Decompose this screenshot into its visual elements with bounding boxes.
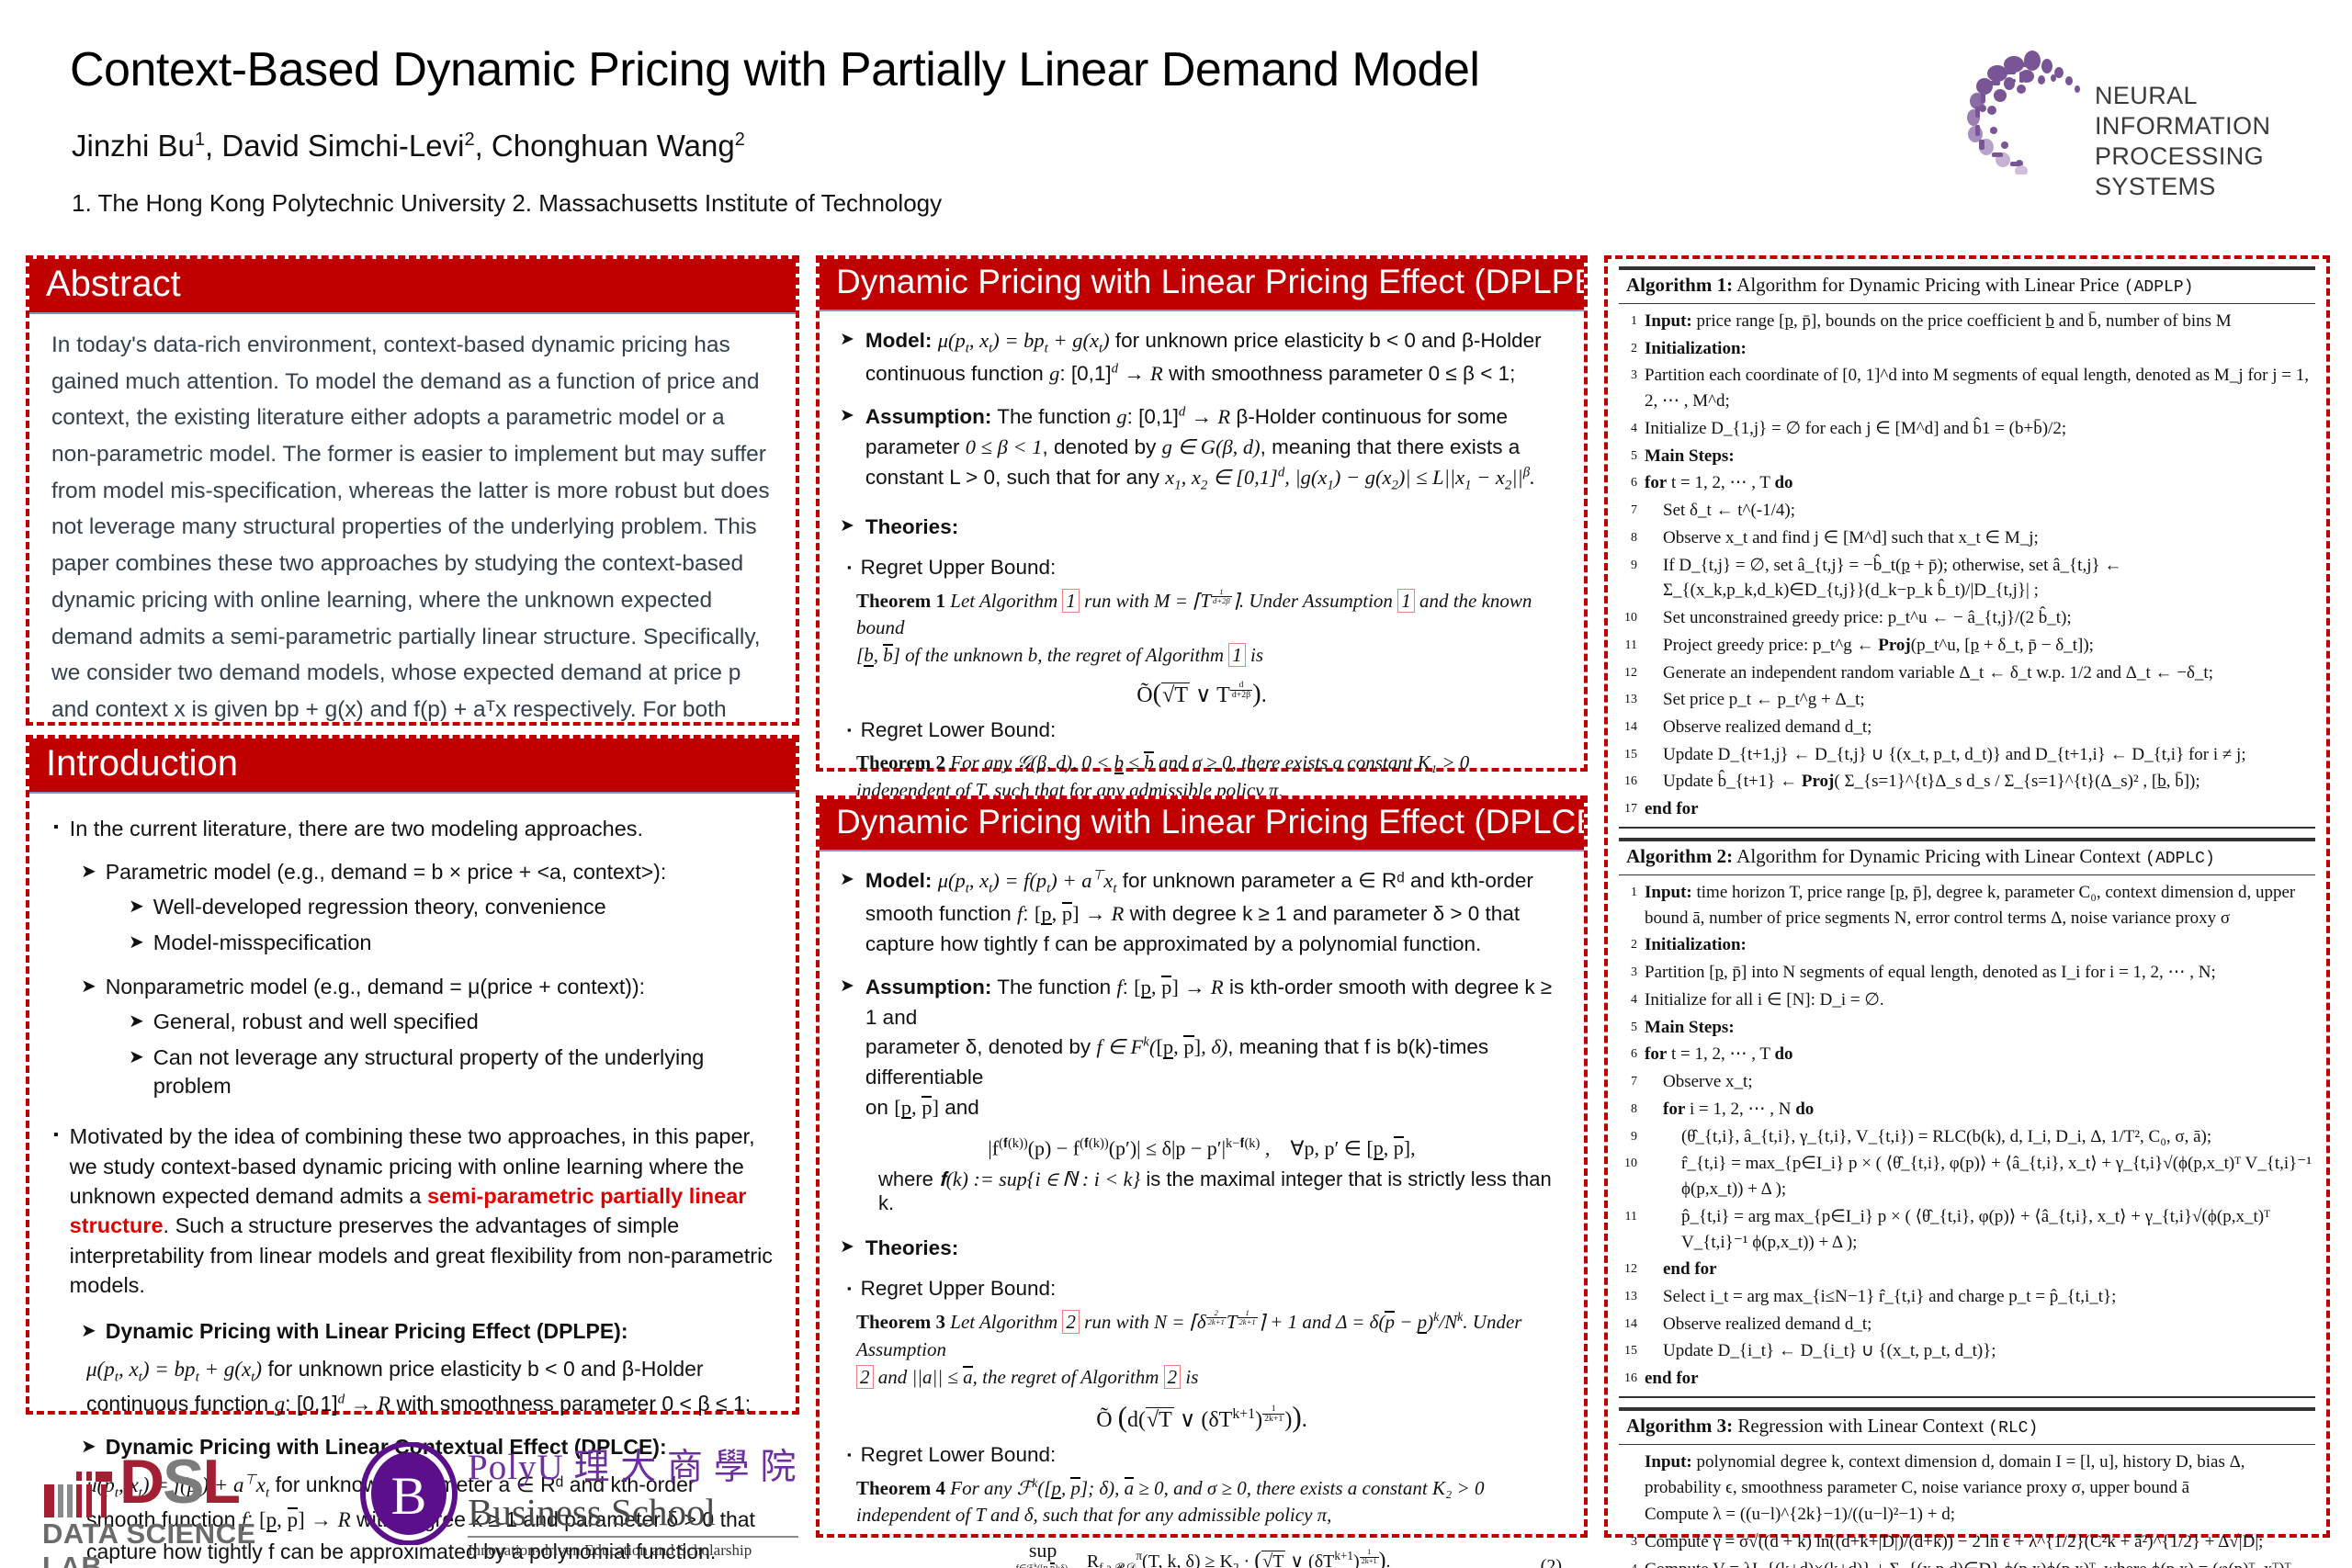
- algorithm-1-line-13: 13Set price p_t ← p_t^g + Δ_t;: [1613, 686, 2321, 714]
- line-text: If D_{t,j} = ∅, set â_{t,j} = −b̂_t(p +…: [1637, 553, 2313, 604]
- line-text: Update D_{t+1,j} ← D_{t,j} ∪ {(x_t, p_t,…: [1637, 742, 2313, 768]
- arrow-bullet-icon: ➤: [81, 973, 96, 1001]
- author-list: Jinzhi Bu1, David Simchi-Levi2, Chonghua…: [72, 129, 1634, 164]
- line-text: Partition [p, p̄] into N segments of equ…: [1637, 960, 2313, 986]
- dplce-smoothness-equation: |f(𝐟(k))(p) − f(𝐟(k))(p′)| ≤ δ|p − p′|k−…: [836, 1136, 1567, 1160]
- line-text: Compute V = λI_{(k+d)×(k+d)} + Σ_{(x,p,d…: [1637, 1557, 2313, 1568]
- intro-dplpe-tail-2: with smoothness parameter 0 < β ≤ 1;: [396, 1392, 751, 1416]
- theorem-2-name: Theorem 2: [856, 751, 945, 773]
- dplce-body: ➤ Model: μ(pt, xt) = f(pt) + a⊤xt for un…: [820, 852, 1584, 1568]
- algorithm-1-line-7: 7Set δ_t ← t^(-1/4);: [1613, 497, 2321, 525]
- dplce-model-t2: smooth function: [865, 902, 1012, 925]
- line-text: for t = 1, 2, ⋯ , T do: [1637, 470, 2313, 496]
- line-text: Observe x_t and find j ∈ [M^d] such that…: [1637, 525, 2313, 551]
- theorem-2-t1: For any: [950, 751, 1012, 773]
- line-number: 14: [1617, 1312, 1637, 1337]
- algorithm-3-line-1: Input: polynomial degree k, context dime…: [1613, 1449, 2321, 1501]
- dplpe-model-tail-1: for unknown price elasticity b < 0 and β…: [1115, 329, 1542, 352]
- square-bullet-icon: ▪: [847, 718, 852, 742]
- theorem-1-assumption-ref[interactable]: 1: [1397, 589, 1415, 613]
- line-number: 10: [1617, 605, 1637, 631]
- author-3: , Chonghuan Wang: [475, 129, 735, 163]
- dplpe-assumption-t3: , denoted by: [1042, 435, 1156, 458]
- theorem-3-t2: run with: [1084, 1311, 1149, 1333]
- mit-logo-icon: [42, 1470, 114, 1517]
- intro-parametric-sub-1: ➤ Well-developed regression theory, conv…: [129, 893, 777, 922]
- algorithm-1-line-3: 3Partition each coordinate of [0, 1]^d i…: [1613, 362, 2321, 414]
- theorem-3-t5: , the regret of Algorithm: [973, 1366, 1159, 1388]
- algorithm-3-line-3: 3Compute γ = σ√((d + k) ln((d+k+|D|)/(d+…: [1613, 1529, 2321, 1556]
- square-bullet-icon: ▪: [847, 556, 852, 580]
- page-title: Context-Based Dynamic Pricing with Parti…: [70, 44, 1724, 96]
- intro-parametric-label: Parametric model (e.g., demand = b × pri…: [106, 858, 666, 886]
- theorem-3-algo-ref[interactable]: 2: [1062, 1310, 1080, 1334]
- arrow-bullet-icon: ➤: [129, 1043, 144, 1101]
- line-number: 15: [1617, 742, 1637, 768]
- algorithm-2-bottom-rule: [1619, 1396, 2315, 1398]
- algorithm-2-line-16: 16end for: [1613, 1365, 2321, 1393]
- algorithm-2-line-11: 11p̂_{t,i} = arg max_{p∈I_i} p × ( ⟨θ̂_{…: [1613, 1203, 2321, 1256]
- algorithm-1-line-2: 2Initialization:: [1613, 335, 2321, 363]
- line-text: Input: time horizon T, price range [p, p…: [1637, 880, 2313, 931]
- line-text: end for: [1637, 796, 2313, 822]
- polyu-logo: B PolyU 理 大 商 學 院 Business School Innova…: [359, 1438, 791, 1554]
- line-text: Select i_t = arg max_{i≤N−1} r̂_{t,i} an…: [1637, 1284, 2313, 1310]
- theorem-3-equation: Õ (d(√T ∨ (δTk+1)12k+1)).: [836, 1401, 1567, 1434]
- theorem-4-equation: sup f∈ℱk([p,p];δ),||a||≤a,𝓟,𝒟∈ℰ(σ) Rf,a,…: [836, 1539, 1567, 1568]
- line-number: 12: [1617, 1257, 1637, 1282]
- arrow-bullet-icon: ➤: [840, 326, 854, 389]
- algorithm-3-title: Algorithm 3: Regression with Linear Cont…: [1613, 1411, 2321, 1441]
- line-text: Observe realized demand d_t;: [1637, 715, 2313, 740]
- algorithm-1-line-10: 10Set unconstrained greedy price: p_t^u …: [1613, 604, 2321, 632]
- algorithm-2-line-2: 2Initialization:: [1613, 931, 2321, 959]
- square-bullet-icon: ▪: [847, 1443, 852, 1467]
- theorem-2-t2: , there exists a constant K₁ > 0 indepen…: [856, 751, 1469, 801]
- dplpe-upper-bound-label: Regret Upper Bound:: [861, 556, 1057, 580]
- algorithm-1-title: Algorithm 1: Algorithm for Dynamic Prici…: [1613, 270, 2321, 300]
- theorem-1-algo-ref[interactable]: 1: [1062, 589, 1080, 613]
- theorem-3-algo-ref-2[interactable]: 2: [1164, 1365, 1182, 1389]
- intro-motivation-post: . Such a structure preserves the advanta…: [70, 1213, 773, 1297]
- algorithms-section: Algorithm 1: Algorithm for Dynamic Prici…: [1604, 255, 2330, 1538]
- intro-dplpe-equation: μ(pt, xt) = bpt + g(xt) for unknown pric…: [86, 1353, 777, 1420]
- abstract-heading: Abstract: [29, 259, 796, 314]
- theorem-1-t5: of the unknown b, the regret of Algorith…: [905, 644, 1224, 666]
- line-number: 12: [1617, 660, 1637, 686]
- line-text: Observe x_t;: [1637, 1069, 2313, 1095]
- introduction-heading: Introduction: [29, 739, 796, 794]
- line-number: 13: [1617, 1284, 1637, 1310]
- dplce-model-t3: with degree k ≥ 1 and parameter δ > 0 th…: [1130, 902, 1521, 925]
- line-text: Set unconstrained greedy price: p_t^u ← …: [1637, 605, 2313, 631]
- line-text: Input: polynomial degree k, context dime…: [1637, 1450, 2313, 1500]
- theorem-4-equation-number: (2): [1541, 1556, 1562, 1568]
- dplce-lower-bound-label: Regret Lower Bound:: [861, 1443, 1057, 1467]
- dplpe-assumption-label: Assumption:: [865, 405, 992, 428]
- line-text: for t = 1, 2, ⋯ , T do: [1637, 1042, 2313, 1067]
- line-number: 15: [1617, 1338, 1637, 1364]
- line-text: Generate an independent random variable …: [1637, 660, 2313, 686]
- line-number: 6: [1617, 470, 1637, 496]
- arrow-bullet-icon: ➤: [129, 893, 144, 922]
- theorem-3-t6: is: [1185, 1366, 1198, 1388]
- algorithm-2-line-3: 3Partition [p, p̄] into N segments of eq…: [1613, 959, 2321, 987]
- dplce-section: Dynamic Pricing with Linear Pricing Effe…: [816, 795, 1588, 1538]
- line-number: 2: [1617, 336, 1637, 362]
- algorithm-2: Algorithm 2: Algorithm for Dynamic Prici…: [1613, 838, 2321, 1398]
- dplpe-assumption-t5: such that for any: [1007, 466, 1159, 489]
- intro-nonparametric-sub-1: ➤ General, robust and well specified: [129, 1008, 777, 1037]
- line-text: Project greedy price: p_t^g ← Proj(p_t^u…: [1637, 633, 2313, 659]
- line-text: Main Steps:: [1637, 444, 2313, 469]
- arrow-bullet-icon: ➤: [129, 1008, 144, 1037]
- arrow-bullet-icon: ➤: [81, 1317, 96, 1346]
- algorithm-1-line-17: 17end for: [1613, 795, 2321, 823]
- mit-dsl-logo: DSL DATA SCIENCE LAB: [42, 1446, 318, 1547]
- intro-parametric-sub-2: ➤ Model-misspecification: [129, 929, 777, 958]
- author-1-affil: 1: [195, 130, 205, 150]
- algorithm-3-line-2: Compute λ = ((u−l)^{2k}−1)/((u−l)²−1) + …: [1613, 1501, 2321, 1529]
- line-text: Set price p_t ← p_t^g + Δ_t;: [1637, 687, 2313, 713]
- dplce-model-label: Model:: [865, 869, 933, 892]
- line-text: end for: [1637, 1366, 2313, 1392]
- line-number: 4: [1617, 987, 1637, 1013]
- line-text: Input: price range [p, p̄], bounds on th…: [1637, 309, 2313, 334]
- algorithm-2-line-12: 12end for: [1613, 1256, 2321, 1283]
- dplpe-model: ➤ Model: μ(pt, xt) = bpt + g(xt) for unk…: [840, 326, 1567, 389]
- line-number: 7: [1617, 1069, 1637, 1095]
- algorithm-2-line-13: 13Select i_t = arg max_{i≤N−1} r̂_{t,i} …: [1613, 1283, 2321, 1311]
- dplce-assumption-t1: The function: [997, 976, 1111, 998]
- theorem-1-t6: is: [1250, 644, 1263, 666]
- line-number: 10: [1617, 1151, 1637, 1201]
- dplpe-theories: ➤ Theories:: [840, 513, 1567, 543]
- theorem-3-name: Theorem 3: [856, 1311, 945, 1333]
- dplpe-body: ➤ Model: μ(pt, xt) = bpt + g(xt) for unk…: [820, 311, 1584, 862]
- dplpe-upper-bound-label-row: ▪ Regret Upper Bound:: [847, 556, 1567, 580]
- algorithm-1-line-9: 9If D_{t,j} = ∅, set â_{t,j} = −b̂_t(p …: [1613, 552, 2321, 604]
- line-text: Update b̂_{t+1} ← Proj( Σ_{s=1}^{t}Δ_s d…: [1637, 769, 2313, 795]
- dplpe-model-label: Model:: [865, 329, 933, 352]
- dplce-where-row: where 𝐟(k) := sup{i ∈ ℕ : i < k} is the …: [878, 1168, 1567, 1215]
- dplpe-heading: Dynamic Pricing with Linear Pricing Effe…: [820, 259, 1584, 311]
- line-number: 3: [1617, 1529, 1637, 1555]
- intro-nonparametric-sub-1-label: General, robust and well specified: [153, 1008, 479, 1037]
- line-number: 7: [1617, 498, 1637, 524]
- algorithm-2-line-8: 8for i = 1, 2, ⋯ , N do: [1613, 1096, 2321, 1123]
- algorithm-1-line-15: 15Update D_{t+1,j} ← D_{t,j} ∪ {(x_t, p_…: [1613, 741, 2321, 769]
- line-number: 8: [1617, 525, 1637, 551]
- algorithm-3-line-4: 4Compute V = λI_{(k+d)×(k+d)} + Σ_{(x,p,…: [1613, 1556, 2321, 1568]
- intro-nonparametric-label: Nonparametric model (e.g., demand = μ(pr…: [106, 973, 645, 1001]
- line-number: 5: [1617, 444, 1637, 469]
- dplpe-lower-bound-label: Regret Lower Bound:: [861, 718, 1057, 742]
- algorithm-2-line-14: 14Observe realized demand d_t;: [1613, 1311, 2321, 1338]
- neurips-line-1: NEURAL INFORMATION: [2095, 81, 2334, 141]
- line-text: (θ̂_{t,i}, â_{t,i}, γ_{t,i}, V_{t,i}) =…: [1637, 1124, 2313, 1150]
- intro-parametric-item: ➤ Parametric model (e.g., demand = b × p…: [81, 858, 777, 886]
- theorem-3-t1: Let Algorithm: [950, 1311, 1057, 1333]
- dplce-assumption: ➤ Assumption: The function f: [p, p] → R…: [840, 973, 1567, 1123]
- algorithm-1-line-5: 5Main Steps:: [1613, 443, 2321, 470]
- line-number: 3: [1617, 960, 1637, 986]
- arrow-bullet-icon: ➤: [840, 1234, 854, 1264]
- dplce-assumption-label: Assumption:: [865, 976, 992, 998]
- dplpe-assumption-t1: The function: [997, 405, 1111, 428]
- arrow-bullet-icon: ➤: [129, 929, 144, 958]
- line-text: p̂_{t,i} = arg max_{p∈I_i} p × ( ⟨θ̂_{t,…: [1637, 1204, 2313, 1255]
- arrow-bullet-icon: ➤: [840, 402, 854, 496]
- dplce-model: ➤ Model: μ(pt, xt) = f(pt) + a⊤xt for un…: [840, 866, 1567, 960]
- algorithm-1-line-6: 6for t = 1, 2, ⋯ , T do: [1613, 469, 2321, 497]
- arrow-bullet-icon: ➤: [840, 513, 854, 543]
- polyu-line-2: Business School: [468, 1490, 798, 1538]
- neurips-logo: NEURAL INFORMATION PROCESSING SYSTEMS: [1966, 46, 2334, 175]
- poster-root: Context-Based Dynamic Pricing with Parti…: [0, 0, 2352, 1568]
- square-bullet-icon: ▪: [847, 1277, 852, 1301]
- intro-nonparametric-sub-2-label: Can not leverage any structural property…: [153, 1043, 777, 1101]
- line-text: for i = 1, 2, ⋯ , N do: [1637, 1097, 2313, 1122]
- square-bullet-icon: ▪: [53, 814, 59, 843]
- arrow-bullet-icon: ➤: [840, 973, 854, 1123]
- algorithm-3: Algorithm 3: Regression with Linear Cont…: [1613, 1407, 2321, 1568]
- polyu-line-3: Innovation-driven Education and Scholars…: [468, 1541, 798, 1560]
- algorithm-1-line-8: 8Observe x_t and find j ∈ [M^d] such tha…: [1613, 525, 2321, 552]
- intro-bullet-approaches-label: In the current literature, there are two…: [70, 814, 643, 843]
- abstract-paragraph: In today's data-rich environment, contex…: [29, 314, 796, 801]
- algorithm-1-line-16: 16Update b̂_{t+1} ← Proj( Σ_{s=1}^{t}Δ_s…: [1613, 768, 2321, 795]
- algorithm-1-mid-rule: [1619, 303, 2315, 304]
- algorithm-2-line-5: 5Main Steps:: [1613, 1014, 2321, 1042]
- author-3-affil: 2: [735, 130, 745, 150]
- dplce-theories: ➤ Theories:: [840, 1234, 1567, 1264]
- line-number: 13: [1617, 687, 1637, 713]
- line-number: 14: [1617, 715, 1637, 740]
- algorithm-1-bottom-rule: [1619, 827, 2315, 829]
- polyu-b-mark: B: [359, 1442, 458, 1545]
- algorithm-1-line-12: 12Generate an independent random variabl…: [1613, 660, 2321, 687]
- theorem-1-t2: run with: [1084, 590, 1149, 612]
- dplce-model-t4: capture how tightly f can be approximate…: [865, 932, 1481, 955]
- line-number: [1617, 1502, 1637, 1528]
- line-text: Initialize D_{1,j} = ∅ for each j ∈ [M^d…: [1637, 416, 2313, 442]
- mit-dsl-logo-row: DSL: [42, 1446, 318, 1517]
- dplce-theories-label: Theories:: [865, 1234, 958, 1264]
- dsl-wordmark: DSL: [119, 1446, 239, 1517]
- line-number: 4: [1617, 1557, 1637, 1568]
- polyu-text-block: PolyU 理 大 商 學 院 Business School Innovati…: [468, 1438, 798, 1560]
- author-1: Jinzhi Bu: [72, 129, 195, 163]
- dplpe-theories-label: Theories:: [865, 513, 958, 543]
- theorem-4-t1: For any: [950, 1477, 1012, 1499]
- algorithm-2-line-15: 15Update D_{i_t} ← D_{i_t} ∪ {(x_t, p_t,…: [1613, 1337, 2321, 1365]
- algorithm-2-mid-rule: [1619, 874, 2315, 875]
- neurips-spiral-icon: [1966, 46, 2095, 175]
- line-text: r̂_{t,i} = max_{p∈I_i} p × ( ⟨θ̂_{t,i}, …: [1637, 1151, 2313, 1201]
- algorithm-2-line-7: 7Observe x_t;: [1613, 1068, 2321, 1096]
- sponsor-logos: DSL DATA SCIENCE LAB B PolyU 理 大 商 學 院 B…: [42, 1438, 805, 1558]
- dsl-subtitle: DATA SCIENCE LAB: [42, 1517, 318, 1568]
- algorithm-2-line-9: 9(θ̂_{t,i}, â_{t,i}, γ_{t,i}, V_{t,i}) …: [1613, 1123, 2321, 1151]
- theorem-4: Theorem 4 For any ℱk([p, p]; δ), a ≥ 0, …: [856, 1474, 1567, 1530]
- line-number: 9: [1617, 1124, 1637, 1150]
- line-number: 3: [1617, 363, 1637, 413]
- line-number: 1: [1617, 880, 1637, 931]
- intro-nonparametric-item: ➤ Nonparametric model (e.g., demand = μ(…: [81, 973, 777, 1001]
- line-text: Observe realized demand d_t;: [1637, 1312, 2313, 1337]
- dplpe-section: Dynamic Pricing with Linear Pricing Effe…: [816, 255, 1588, 772]
- algorithm-2-line-4: 4Initialize for all i ∈ [N]: D_i = ∅.: [1613, 987, 2321, 1014]
- algorithms-container: Algorithm 1: Algorithm for Dynamic Prici…: [1608, 259, 2326, 1568]
- dplce-model-t1: for unknown parameter a ∈ Rᵈ and kth-ord…: [1123, 869, 1533, 892]
- affiliations: 1. The Hong Kong Polytechnic University …: [72, 189, 1725, 218]
- theorem-1-equation: Õ(√T ∨ Tdd+2β).: [836, 679, 1567, 709]
- line-text: Initialization:: [1637, 932, 2313, 958]
- intro-dplpe-item: ➤ Dynamic Pricing with Linear Pricing Ef…: [81, 1317, 777, 1346]
- theorem-1-t1: Let Algorithm: [950, 590, 1057, 612]
- intro-dplpe-tail-1: for unknown price elasticity b < 0 and β…: [267, 1357, 703, 1381]
- dplce-assumption-t5: and: [944, 1096, 979, 1119]
- algorithm-1-line-14: 14Observe realized demand d_t;: [1613, 714, 2321, 741]
- line-number: 8: [1617, 1097, 1637, 1122]
- algorithm-2-title: Algorithm 2: Algorithm for Dynamic Prici…: [1613, 841, 2321, 872]
- line-text: Compute λ = ((u−l)^{2k}−1)/((u−l)²−1) + …: [1637, 1502, 2313, 1528]
- line-number: [1617, 1450, 1637, 1500]
- neurips-line-2: PROCESSING SYSTEMS: [2095, 141, 2334, 202]
- dplpe-assumption: ➤ Assumption: The function g: [0,1]d → R…: [840, 402, 1567, 496]
- line-number: 4: [1617, 416, 1637, 442]
- polyu-b-letter: B: [391, 1466, 427, 1526]
- line-text: Main Steps:: [1637, 1015, 2313, 1041]
- line-number: 17: [1617, 796, 1637, 822]
- abstract-section: Abstract In today's data-rich environmen…: [26, 255, 799, 726]
- line-number: 9: [1617, 553, 1637, 604]
- line-number: 16: [1617, 1366, 1637, 1392]
- line-text: Partition each coordinate of [0, 1]^d in…: [1637, 363, 2313, 413]
- poster-header: Context-Based Dynamic Pricing with Parti…: [0, 0, 2352, 246]
- theorem-3: Theorem 3 Let Algorithm 2 run with N = ⌈…: [856, 1308, 1567, 1391]
- dplce-lower-bound-label-row: ▪ Regret Lower Bound:: [847, 1443, 1567, 1467]
- intro-parametric-sub-2-label: Model-misspecification: [153, 929, 372, 958]
- dplpe-model-tail-2: with smoothness parameter 0 ≤ β < 1;: [1169, 362, 1515, 385]
- line-number: 6: [1617, 1042, 1637, 1067]
- arrow-bullet-icon: ➤: [840, 866, 854, 960]
- line-number: 16: [1617, 769, 1637, 795]
- dplce-upper-bound-label-row: ▪ Regret Upper Bound:: [847, 1277, 1567, 1301]
- line-text: Initialization:: [1637, 336, 2313, 362]
- theorem-1-algo-ref-2[interactable]: 1: [1228, 643, 1246, 667]
- intro-motivation: ▪ Motivated by the idea of combining the…: [53, 1122, 777, 1301]
- line-number: 11: [1617, 1204, 1637, 1255]
- line-number: 5: [1617, 1015, 1637, 1041]
- algorithm-1-line-11: 11Project greedy price: p_t^g ← Proj(p_t…: [1613, 632, 2321, 660]
- algorithm-1-line-1: 1Input: price range [p, p̄], bounds on t…: [1613, 308, 2321, 335]
- dplce-heading: Dynamic Pricing with Linear Pricing Effe…: [820, 799, 1584, 852]
- theorem-4-name: Theorem 4: [856, 1477, 945, 1499]
- line-number: 2: [1617, 932, 1637, 958]
- theorem-3-t4: and: [878, 1366, 908, 1388]
- polyu-b-icon: B: [359, 1442, 458, 1545]
- intro-dplpe-label: Dynamic Pricing with Linear Pricing Effe…: [106, 1317, 628, 1346]
- theorem-3-assumption-ref[interactable]: 2: [856, 1365, 874, 1389]
- algorithm-2-line-1: 1Input: time horizon T, price range [p, …: [1613, 879, 2321, 931]
- algorithm-2-line-6: 6for t = 1, 2, ⋯ , T do: [1613, 1041, 2321, 1068]
- theorem-1-name: Theorem 1: [856, 590, 945, 612]
- author-2: , David Simchi-Levi: [205, 129, 464, 163]
- polyu-line-1: PolyU 理 大 商 學 院: [468, 1438, 798, 1490]
- theorem-1-t3: . Under Assumption: [1239, 590, 1393, 612]
- dplpe-lower-bound-label-row: ▪ Regret Lower Bound:: [847, 718, 1567, 742]
- line-text: end for: [1637, 1257, 2313, 1282]
- author-2-affil: 2: [464, 130, 474, 150]
- neurips-logo-text: NEURAL INFORMATION PROCESSING SYSTEMS: [2095, 81, 2334, 202]
- line-number: 1: [1617, 309, 1637, 334]
- line-text: Compute γ = σ√((d + k) ln((d+k+|D|)/(d+k…: [1637, 1529, 2313, 1555]
- intro-parametric-sub-1-label: Well-developed regression theory, conven…: [153, 893, 606, 922]
- dplce-upper-bound-label: Regret Upper Bound:: [861, 1277, 1057, 1301]
- line-text: Set δ_t ← t^(-1/4);: [1637, 498, 2313, 524]
- algorithm-1-line-4: 4Initialize D_{1,j} = ∅ for each j ∈ [M^…: [1613, 415, 2321, 443]
- dplce-assumption-t3: parameter δ, denoted by: [865, 1035, 1091, 1058]
- square-bullet-icon: ▪: [53, 1122, 59, 1301]
- algorithm-1: Algorithm 1: Algorithm for Dynamic Prici…: [1613, 266, 2321, 829]
- theorem-1: Theorem 1 Let Algorithm 1 run with M = ⌈…: [856, 587, 1567, 670]
- intro-bullet-approaches: ▪ In the current literature, there are t…: [53, 814, 777, 843]
- line-number: 11: [1617, 633, 1637, 659]
- line-text: Initialize for all i ∈ [N]: D_i = ∅.: [1637, 987, 2313, 1013]
- line-text: Update D_{i_t} ← D_{i_t} ∪ {(x_t, p_t, d…: [1637, 1338, 2313, 1364]
- arrow-bullet-icon: ➤: [81, 858, 96, 886]
- algorithm-3-mid-rule: [1619, 1444, 2315, 1445]
- algorithm-2-line-10: 10r̂_{t,i} = max_{p∈I_i} p × ( ⟨θ̂_{t,i}…: [1613, 1150, 2321, 1202]
- introduction-section: Introduction ▪ In the current literature…: [26, 735, 799, 1415]
- intro-nonparametric-sub-2: ➤ Can not leverage any structural proper…: [129, 1043, 777, 1101]
